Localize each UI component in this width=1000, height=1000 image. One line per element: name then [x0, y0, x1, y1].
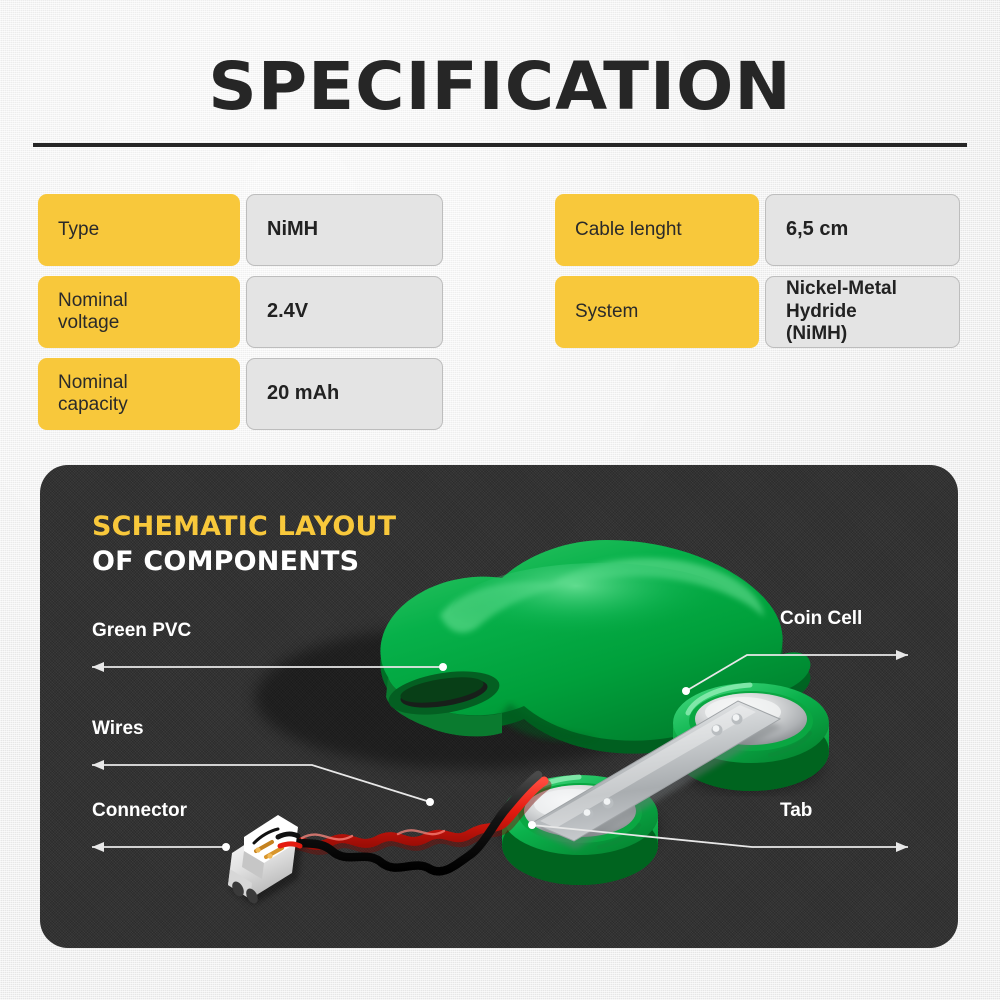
title-divider — [33, 143, 967, 147]
spec-key-nominal-voltage: Nominal voltage — [38, 276, 240, 348]
spec-value-nominal-voltage: 2.4V — [246, 276, 443, 348]
callout-label-green-pvc: Green PVC — [92, 620, 191, 642]
spec-key-cable-length: Cable lenght — [555, 194, 759, 266]
specification-table: Type NiMH Nominal voltage 2.4V Nominal c… — [38, 194, 960, 430]
callout-label-wires: Wires — [92, 718, 144, 740]
spec-row-system: System Nickel-Metal Hydride (NiMH) — [555, 276, 960, 348]
spec-row-nominal-voltage: Nominal voltage 2.4V — [38, 276, 443, 348]
spec-key-nominal-capacity: Nominal capacity — [38, 358, 240, 430]
page-title: SPECIFICATION — [0, 48, 1000, 125]
product-illustration — [40, 465, 958, 948]
spec-column-right: Cable lenght 6,5 cm System Nickel-Metal … — [555, 194, 960, 430]
jst-connector — [228, 815, 302, 905]
spec-column-left: Type NiMH Nominal voltage 2.4V Nominal c… — [38, 194, 443, 430]
page-background: SPECIFICATION Type NiMH Nominal voltage … — [0, 0, 1000, 1000]
schematic-panel: SCHEMATIC LAYOUT OF COMPONENTS — [40, 465, 958, 948]
callout-label-coin-cell: Coin Cell — [780, 608, 862, 630]
spec-row-nominal-capacity: Nominal capacity 20 mAh — [38, 358, 443, 430]
spec-key-system: System — [555, 276, 759, 348]
spec-value-type: NiMH — [246, 194, 443, 266]
spec-row-cable-length: Cable lenght 6,5 cm — [555, 194, 960, 266]
spec-row-type: Type NiMH — [38, 194, 443, 266]
spec-value-system: Nickel-Metal Hydride (NiMH) — [765, 276, 960, 348]
callout-label-tab: Tab — [780, 800, 812, 822]
spec-key-type: Type — [38, 194, 240, 266]
spec-value-nominal-capacity: 20 mAh — [246, 358, 443, 430]
callout-label-connector: Connector — [92, 800, 187, 822]
leader-connector — [92, 842, 230, 852]
spec-value-cable-length: 6,5 cm — [765, 194, 960, 266]
